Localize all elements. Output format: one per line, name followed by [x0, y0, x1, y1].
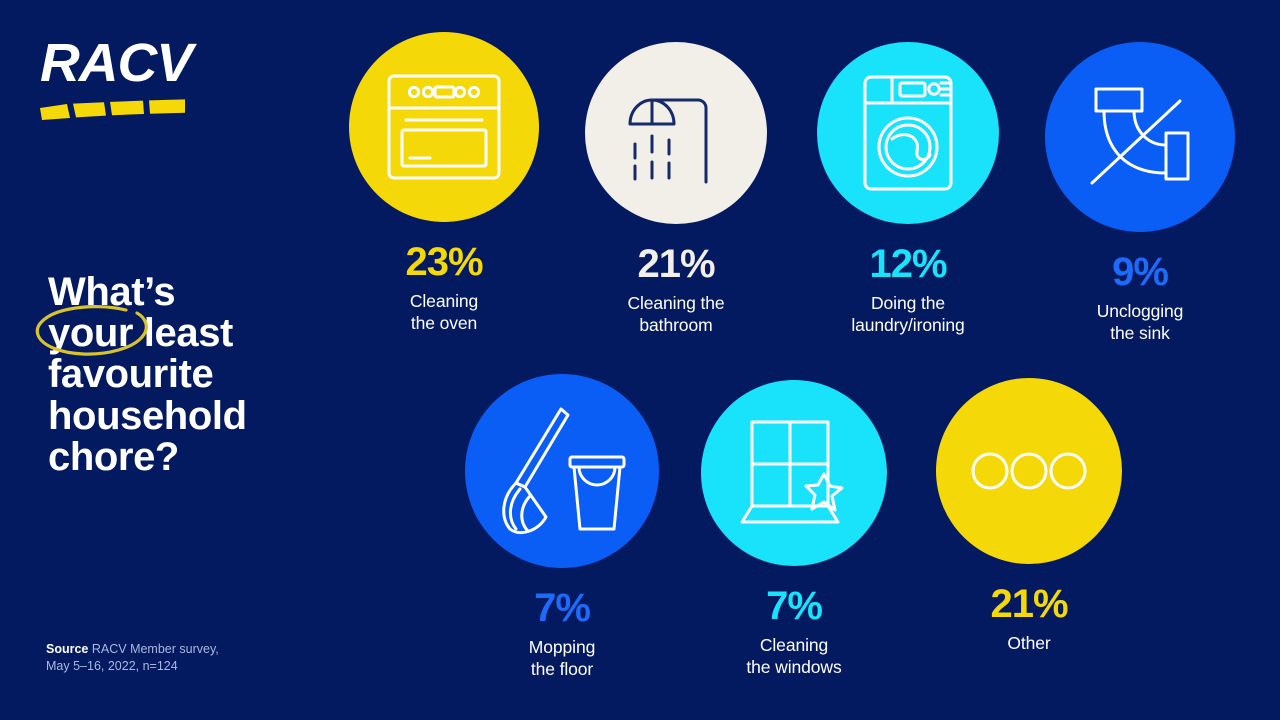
mop-bucket-icon [498, 405, 626, 537]
stat-percentage: 9% [1040, 252, 1240, 292]
headline-line-3: favourite [48, 354, 378, 395]
window-icon [738, 418, 850, 528]
stat-label: Cleaning the bathroom [576, 292, 776, 336]
headline-circled-word: your [48, 313, 133, 354]
racv-logo: RACV [40, 36, 260, 126]
infographic-canvas: RACV What’s your least favourite househo… [0, 0, 1280, 720]
stat-item-cleaning-the-oven: 23% Cleaning the oven [344, 32, 544, 334]
stat-bubble [936, 378, 1122, 564]
stat-bubble [817, 42, 999, 224]
source-note: Source RACV Member survey, May 5–16, 202… [46, 641, 346, 675]
source-line-2: May 5–16, 2022, n=124 [46, 659, 178, 673]
stat-label: Unclogging the sink [1040, 300, 1240, 344]
oven-icon [385, 72, 503, 182]
stat-percentage: 21% [576, 244, 776, 284]
stat-label-line-1: Unclogging [1040, 300, 1240, 322]
stat-label-line-2: the floor [462, 658, 662, 680]
stat-label: Cleaning the oven [344, 290, 544, 334]
shower-icon [624, 78, 728, 188]
stat-bubble [465, 374, 659, 568]
stat-label-line-2: the windows [698, 656, 890, 678]
stat-label: Mopping the floor [462, 636, 662, 680]
stat-percentage: 21% [930, 584, 1128, 624]
logo-wordmark: RACV [40, 36, 264, 90]
stat-item-other: 21% Other [930, 378, 1128, 654]
stat-label: Doing the laundry/ironing [808, 292, 1008, 336]
stat-label-line-1: Mopping [462, 636, 662, 658]
headline-line-5: chore? [48, 437, 378, 478]
stat-bubble [349, 32, 539, 222]
headline-line-2-rest: least [133, 311, 233, 355]
stat-item-mopping-the-floor: 7% Mopping the floor [462, 374, 662, 680]
stat-percentage: 23% [344, 242, 544, 282]
stat-label-line-1: Other [930, 632, 1128, 654]
stat-item-doing-the-laundry: 12% Doing the laundry/ironing [808, 42, 1008, 336]
stat-bubble [585, 42, 767, 224]
stat-label-line-2: the oven [344, 312, 544, 334]
drain-pipe-icon [1086, 83, 1194, 191]
stat-label-line-2: bathroom [576, 314, 776, 336]
logo-swoosh-icon [40, 90, 260, 122]
headline-circled-word-text: your [48, 311, 133, 355]
stat-percentage: 12% [808, 244, 1008, 284]
source-label: Source [46, 642, 88, 656]
stat-label-line-1: Cleaning [344, 290, 544, 312]
stat-item-cleaning-the-bathroom: 21% Cleaning the bathroom [576, 42, 776, 336]
page-title: What’s your least favourite household ch… [48, 272, 378, 478]
stat-label: Cleaning the windows [698, 634, 890, 678]
stat-label-line-1: Cleaning [698, 634, 890, 656]
stat-item-cleaning-the-windows: 7% Cleaning the windows [698, 380, 890, 678]
ellipsis-icon [970, 451, 1088, 491]
stat-percentage: 7% [698, 586, 890, 626]
headline-line-2: your least [48, 313, 378, 354]
stat-label: Other [930, 632, 1128, 654]
headline-line-4: household [48, 396, 378, 437]
stat-label-line-2: laundry/ironing [808, 314, 1008, 336]
stat-label-line-1: Doing the [808, 292, 1008, 314]
stat-item-unclogging-the-sink: 9% Unclogging the sink [1040, 42, 1240, 344]
stat-label-line-1: Cleaning the [576, 292, 776, 314]
headline-line-1: What’s [48, 272, 378, 313]
stat-bubble [1045, 42, 1235, 232]
washing-machine-icon [861, 73, 955, 193]
stat-bubble [701, 380, 887, 566]
source-line-1: RACV Member survey, [88, 642, 218, 656]
stat-label-line-2: the sink [1040, 322, 1240, 344]
stat-percentage: 7% [462, 588, 662, 628]
